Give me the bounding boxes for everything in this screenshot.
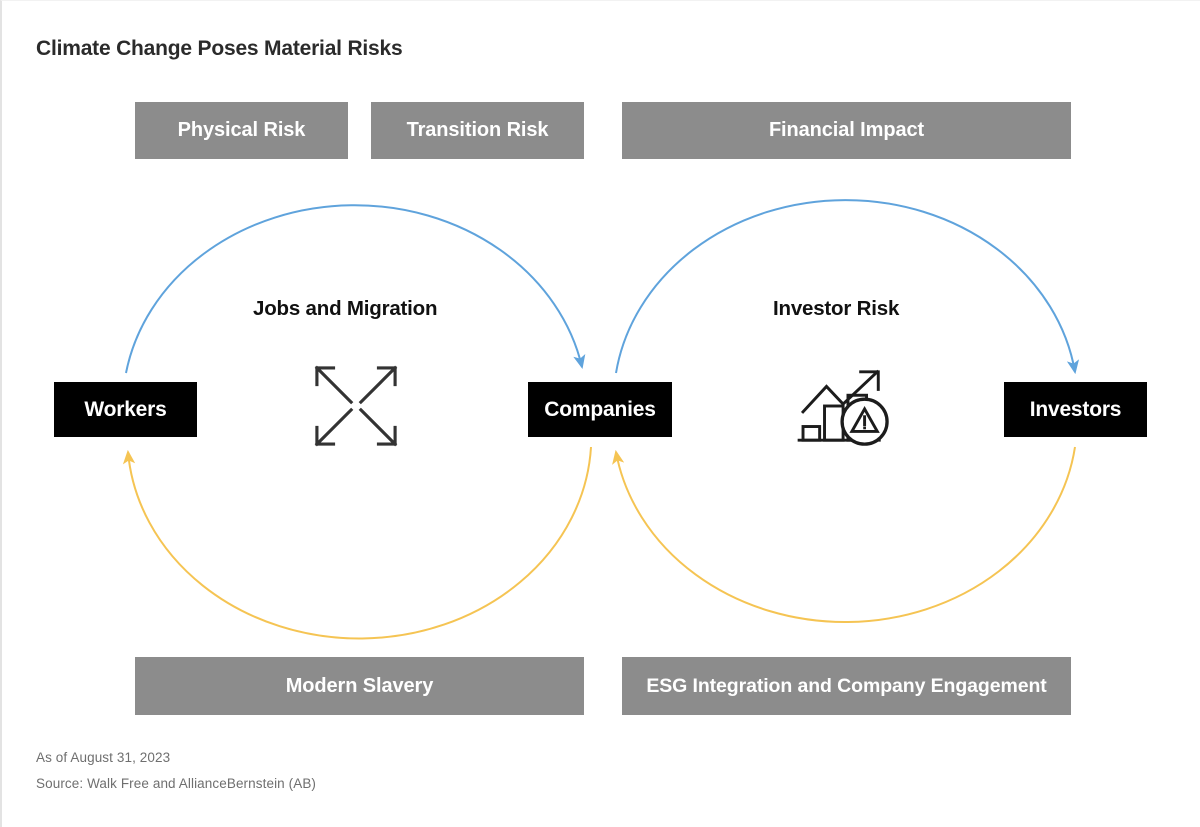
arc-investors-to-companies [616,447,1075,622]
center-label-investor-risk: Investor Risk [773,297,899,321]
node-companies[interactable]: Companies [528,382,672,437]
footnote-source: Source: Walk Free and AllianceBernstein … [36,776,316,791]
top-box-transition-risk[interactable]: Transition Risk [371,102,584,159]
top-box-financial-impact[interactable]: Financial Impact [622,102,1071,159]
bar-chart-growth-warning-icon [795,363,899,449]
top-box-label: Physical Risk [178,119,306,142]
arc-workers-to-companies [126,205,582,373]
node-label: Workers [84,398,166,422]
arc-companies-to-investors [616,200,1075,373]
top-box-label: Transition Risk [407,119,549,142]
bottom-box-label: ESG Integration and Company Engagement [646,675,1046,698]
bottom-box-modern-slavery[interactable]: Modern Slavery [135,657,584,715]
node-label: Investors [1030,398,1122,422]
node-label: Companies [544,398,655,422]
center-label-jobs-and-migration: Jobs and Migration [253,297,437,321]
node-investors[interactable]: Investors [1004,382,1147,437]
top-box-physical-risk[interactable]: Physical Risk [135,102,348,159]
top-box-label: Financial Impact [769,119,924,142]
four-way-expand-arrows-icon [307,363,405,449]
node-workers[interactable]: Workers [54,382,197,437]
diagram-page: Climate Change Poses Material Risks Phys… [0,0,1200,827]
arc-companies-to-workers [128,447,591,638]
bottom-box-label: Modern Slavery [286,675,434,698]
bottom-box-esg-integration[interactable]: ESG Integration and Company Engagement [622,657,1071,715]
footnote-as-of-date: As of August 31, 2023 [36,750,170,765]
